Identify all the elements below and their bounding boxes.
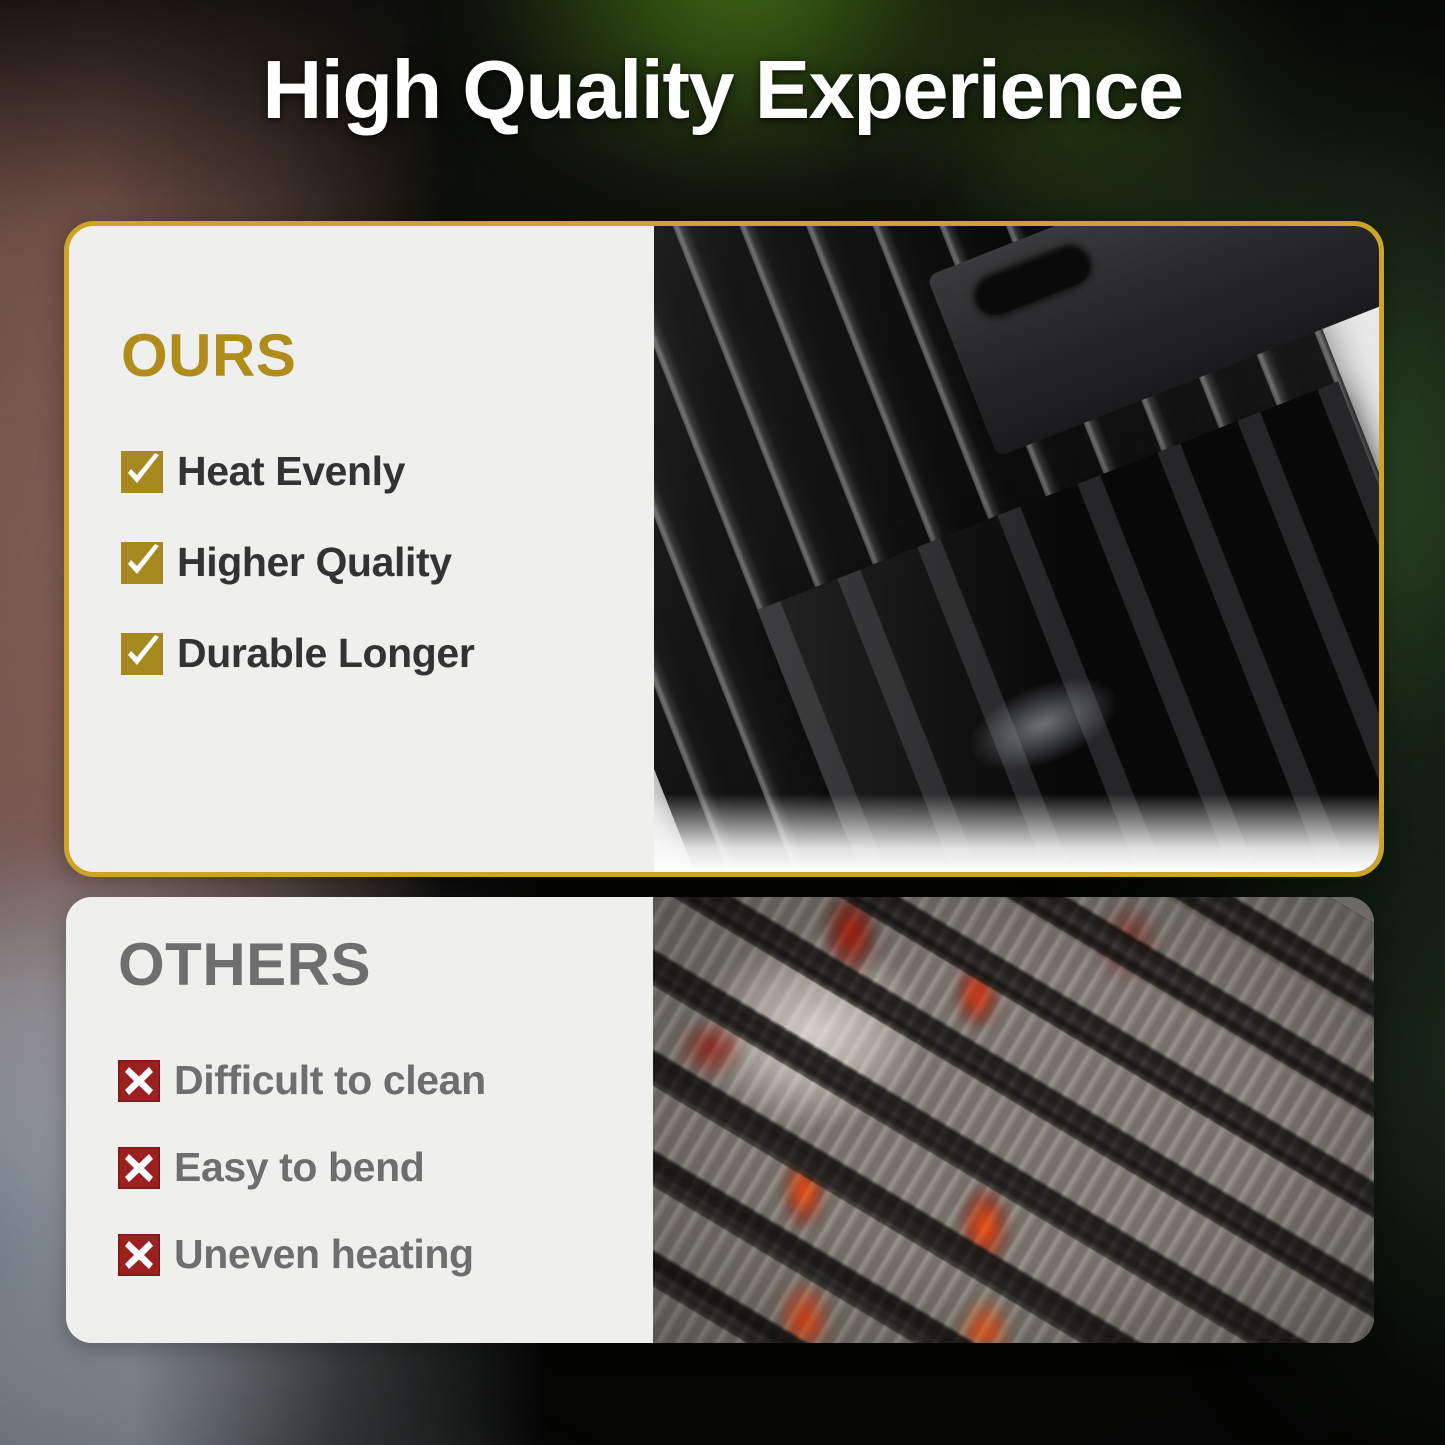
feature-label: Difficult to clean	[174, 1057, 486, 1104]
list-item: Heat Evenly	[121, 448, 654, 495]
feature-label: Heat Evenly	[177, 448, 405, 495]
list-item: Higher Quality	[121, 539, 654, 586]
ours-heading: OURS	[121, 326, 654, 386]
feature-label: Higher Quality	[177, 539, 452, 586]
photo-vignette	[653, 897, 1374, 1343]
ours-panel: OURS Heat Evenly	[69, 226, 654, 872]
check-icon	[121, 633, 163, 675]
x-icon	[118, 1060, 160, 1102]
list-item: Easy to bend	[118, 1144, 653, 1191]
list-item: Difficult to clean	[118, 1057, 653, 1104]
others-panel: OTHERS Difficult to clean	[66, 897, 653, 1343]
list-item: Uneven heating	[118, 1231, 653, 1278]
others-card: OTHERS Difficult to clean	[66, 897, 1374, 1343]
feature-label: Uneven heating	[174, 1231, 474, 1278]
others-heading: OTHERS	[118, 935, 653, 995]
feature-label: Easy to bend	[174, 1144, 424, 1191]
x-icon	[118, 1147, 160, 1189]
others-product-photo	[653, 897, 1374, 1343]
list-item: Durable Longer	[121, 630, 654, 677]
ours-card: OURS Heat Evenly	[64, 221, 1384, 877]
photo-bottom-fade	[654, 794, 1379, 872]
others-feature-list: Difficult to clean Easy to bend	[118, 1057, 653, 1278]
ours-product-photo	[654, 226, 1379, 872]
x-icon	[118, 1234, 160, 1276]
ours-feature-list: Heat Evenly Higher Quality	[121, 448, 654, 677]
check-icon	[121, 451, 163, 493]
page-title: High Quality Experience	[0, 44, 1445, 137]
check-icon	[121, 542, 163, 584]
feature-label: Durable Longer	[177, 630, 474, 677]
product-comparison-infographic: High Quality Experience OURS Heat Evenly	[0, 0, 1445, 1445]
